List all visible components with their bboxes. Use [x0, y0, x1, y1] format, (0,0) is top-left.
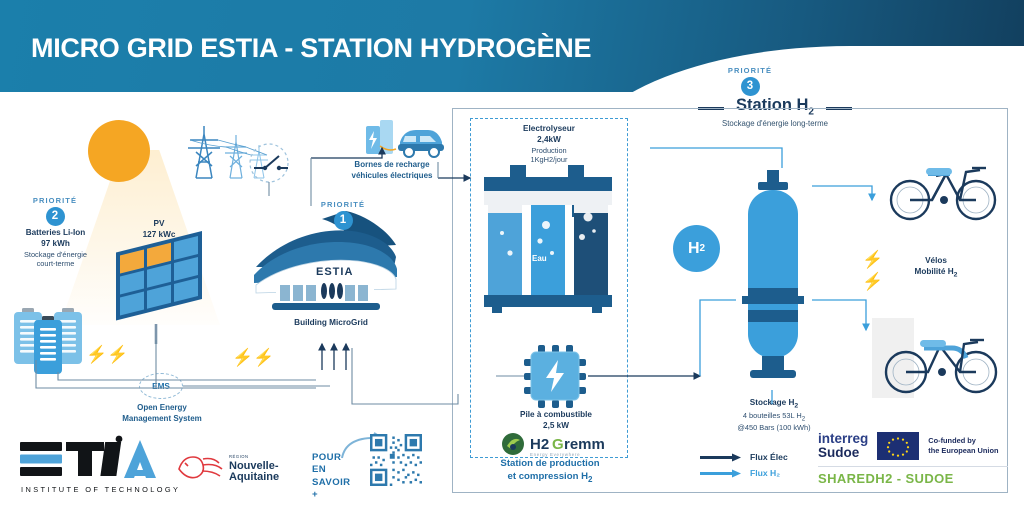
battery-bank-icon — [8, 300, 94, 380]
electrolyser-note-2: 1KgH2/jour — [494, 155, 604, 165]
eu-line-2: the European Union — [928, 446, 998, 456]
svg-text:H2: H2 — [530, 436, 549, 453]
pv-solar-panel-icon — [110, 232, 222, 344]
grid-switch-icon — [248, 142, 290, 184]
legend-label-h2: Flux H₂ — [750, 468, 780, 478]
funding-divider — [818, 466, 1008, 467]
batteries-note-1: Stockage d'énergie — [3, 250, 108, 260]
ems-line-2: Management System — [106, 414, 218, 425]
h2-bike-icon-bottom — [880, 318, 1000, 396]
h2-badge-label: H — [688, 240, 700, 258]
h2-storage-label: Stockage H2 4 bouteilles 53L H2 @450 Bar… — [705, 398, 843, 433]
legend-arrow-h2-icon — [700, 469, 742, 478]
h2gremm-logo: H2 G remm Energy Everywhere — [500, 432, 630, 458]
priority-1-number: 1 — [334, 211, 353, 230]
project-name: SHAREDH2 - SUDOE — [818, 471, 1008, 486]
eu-flag-icon — [877, 432, 919, 460]
header-curve-decoration — [574, 46, 1024, 92]
interreg-line-2: Sudoe — [818, 446, 868, 460]
legend-item-h2: Flux H₂ — [700, 468, 788, 478]
svg-text:remm: remm — [564, 436, 605, 453]
fuel-cell-title: Pile à combustible — [495, 410, 617, 421]
pv-title: PV — [119, 219, 199, 230]
batteries-title: Batteries Li-Ion — [3, 228, 108, 239]
bikes-line-2: Mobilité H2 — [886, 267, 986, 280]
eu-funding-text: Co-funded by the European Union — [928, 436, 998, 457]
priority-3-label: PRIORITÉ — [705, 66, 795, 75]
legend-item-elec: Flux Élec — [700, 452, 788, 462]
h2-storage-title: Stockage H2 — [705, 398, 843, 411]
legend-label-elec: Flux Élec — [750, 452, 788, 462]
estia-tagline: INSTITUTE OF TECHNOLOGY — [21, 485, 180, 494]
pv-value: 127 kWc — [119, 230, 199, 241]
ems-badge: EMS — [139, 373, 183, 399]
energy-bolt-icon-4: ⚡ — [862, 272, 883, 292]
legend: Flux Élec Flux H₂ — [700, 452, 788, 484]
interreg-sudoe-logo: interreg Sudoe — [818, 432, 868, 460]
svg-text:G: G — [552, 436, 564, 453]
ev-charger-line-1: Bornes de recharge — [337, 160, 447, 171]
region-small-label: RÉGION — [229, 454, 249, 459]
priority-2-label: PRIORITÉ — [10, 196, 100, 205]
ems-line-1: Open Energy — [106, 403, 218, 414]
fuel-cell-icon — [524, 345, 586, 407]
batteries-label: Batteries Li-Ion 97 kWh Stockage d'énerg… — [3, 228, 108, 269]
svg-text:Eau: Eau — [532, 254, 547, 263]
electrolyser-label: Electrolyseur 2,4kW Production 1KgH2/jou… — [494, 124, 604, 165]
qr-cta-line-1: POUR EN — [312, 452, 350, 477]
h2-bike-icon-top — [888, 152, 1000, 224]
estia-logo: INSTITUTE OF TECHNOLOGY — [18, 436, 166, 498]
priority-1-label: PRIORITÉ — [298, 200, 388, 209]
ev-charger-line-2: véhicules électriques — [337, 171, 447, 182]
priority-badge-3: PRIORITÉ 3 — [705, 66, 795, 96]
qr-cta-text: POUR EN SAVOIR + — [312, 452, 350, 502]
priority-2-number: 2 — [46, 207, 65, 226]
building-label-text: Building MicroGrid — [272, 318, 390, 329]
batteries-value: 97 kWh — [3, 239, 108, 250]
electrolyser-value: 2,4kW — [494, 135, 604, 146]
pv-label: PV 127 kWc — [119, 219, 199, 241]
infographic-canvas: MICRO GRID ESTIA - STATION HYDROGÈNE PRI… — [0, 0, 1024, 512]
production-station-caption: Station de production et compression H2 — [470, 458, 630, 486]
region-line-2: Aquitaine — [229, 471, 279, 483]
ems-label: EMS — [152, 382, 170, 391]
batteries-note-2: court-terme — [3, 259, 108, 269]
interreg-line-1: interreg — [818, 432, 868, 446]
region-nouvelle-aquitaine-logo: RÉGION Nouvelle- Aquitaine — [175, 447, 281, 487]
legend-arrow-elec-icon — [700, 453, 742, 462]
eu-line-1: Co-funded by — [928, 436, 998, 446]
h2-badge-sub: 2 — [700, 243, 706, 254]
page-title: MICRO GRID ESTIA - STATION HYDROGÈNE — [31, 33, 591, 64]
qr-code-icon[interactable] — [370, 434, 422, 486]
production-station-caption-line-1: Station de production — [470, 458, 630, 471]
fuel-cell-value: 2,5 kW — [495, 421, 617, 432]
h2-molecule-badge: H2 — [673, 225, 720, 272]
priority-badge-2: PRIORITÉ 2 — [10, 196, 100, 226]
fuel-cell-label: Pile à combustible 2,5 kW — [495, 410, 617, 432]
ev-charger-icon — [358, 118, 448, 162]
qr-cta-line-2: SAVOIR + — [312, 477, 350, 502]
h2-storage-line-1: 4 bouteilles 53L H2 — [705, 411, 843, 424]
electrolyser-title: Electrolyseur — [494, 124, 604, 135]
building-label: Building MicroGrid — [272, 318, 390, 329]
svg-text:Energy Everywhere: Energy Everywhere — [530, 452, 580, 457]
production-station-caption-line-2: et compression H2 — [470, 471, 630, 486]
ems-caption: Open Energy Management System — [106, 403, 218, 424]
h2-storage-tank-icon — [736, 170, 810, 388]
sun-icon — [88, 120, 150, 182]
ev-charger-label: Bornes de recharge véhicules électriques — [337, 160, 447, 181]
priority-badge-1: PRIORITÉ 1 — [298, 200, 388, 230]
energy-bolt-icon-3: ⚡ — [862, 250, 883, 270]
electrolyser-icon: Eau — [484, 165, 616, 313]
energy-bolt-icon-1: ⚡⚡ — [86, 345, 128, 365]
bikes-label: Vélos Mobilité H2 — [886, 256, 986, 279]
priority-3-number: 3 — [741, 77, 760, 96]
electrolyser-note-1: Production — [494, 146, 604, 156]
funding-logos-block: interreg Sudoe Co-funded by the European… — [818, 432, 1008, 486]
energy-bolt-icon-2: ⚡⚡ — [232, 348, 274, 368]
svg-text:ESTIA: ESTIA — [316, 266, 353, 278]
bikes-line-1: Vélos — [886, 256, 986, 267]
